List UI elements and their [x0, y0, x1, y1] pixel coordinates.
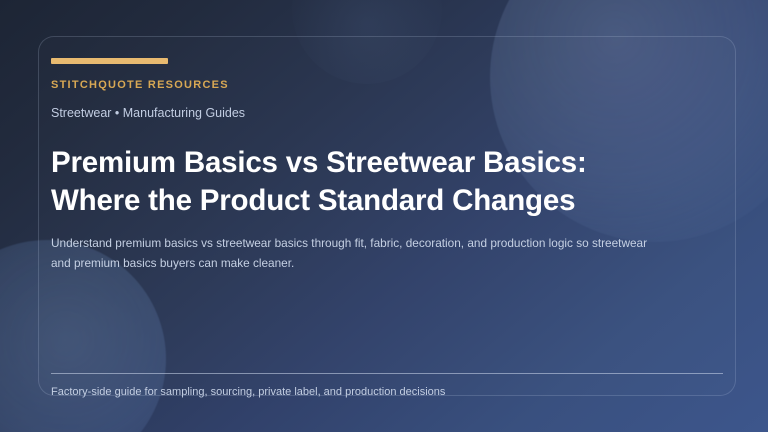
hero-content: STITCHQUOTE RESOURCES Streetwear • Manuf…: [51, 58, 711, 273]
footer-note: Factory-side guide for sampling, sourcin…: [51, 385, 723, 399]
eyebrow-label: STITCHQUOTE RESOURCES: [51, 79, 711, 92]
page-description: Understand premium basics vs streetwear …: [51, 233, 669, 273]
category-breadcrumb: Streetwear • Manufacturing Guides: [51, 106, 711, 121]
page-title: Premium Basics vs Streetwear Basics: Whe…: [51, 144, 691, 220]
hero-slide: STITCHQUOTE RESOURCES Streetwear • Manuf…: [0, 0, 768, 432]
footer-divider: [51, 373, 723, 374]
page-title-line-1: Premium Basics vs Streetwear Basics:: [51, 144, 691, 182]
accent-bar: [51, 58, 168, 64]
hero-footer: Factory-side guide for sampling, sourcin…: [51, 373, 723, 399]
page-title-line-2: Where the Product Standard Changes: [51, 182, 691, 220]
